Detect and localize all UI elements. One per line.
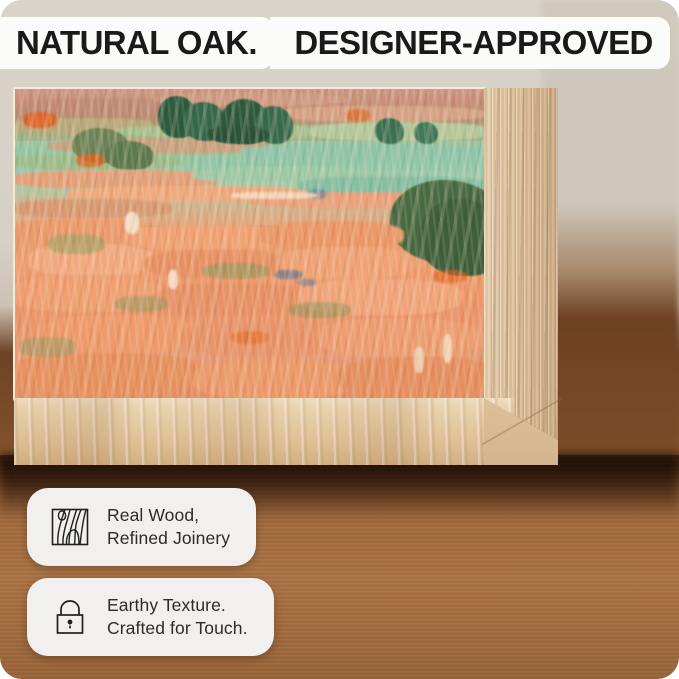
oak-grain-streaks bbox=[14, 398, 514, 465]
painting-layers bbox=[15, 89, 485, 399]
headline-badge: NATURAL OAK. DESIGNER-APPROVED bbox=[0, 14, 670, 69]
frame-bottom-rail bbox=[14, 398, 514, 465]
feature-card-text: Real Wood, Refined Joinery bbox=[107, 504, 230, 550]
lock-icon bbox=[49, 596, 91, 638]
feature-card-text: Earthy Texture. Crafted for Touch. bbox=[107, 594, 248, 640]
oak-picture-frame bbox=[14, 88, 558, 465]
oak-grain-detail bbox=[484, 88, 558, 440]
headline-line-2: DESIGNER-APPROVED bbox=[270, 17, 669, 69]
feature-card-real-wood[interactable]: Real Wood, Refined Joinery bbox=[27, 488, 256, 566]
product-marketing-image: NATURAL OAK. DESIGNER-APPROVED Real Wood… bbox=[0, 0, 679, 679]
frame-miter-joint-line bbox=[482, 396, 562, 446]
feature-card-earthy-texture[interactable]: Earthy Texture. Crafted for Touch. bbox=[27, 578, 274, 656]
wood-grain-icon bbox=[49, 506, 91, 548]
painting-impasto-texture bbox=[15, 89, 485, 399]
frame-right-rail bbox=[484, 88, 558, 440]
landscape-painting bbox=[15, 89, 485, 399]
feature-card-list: Real Wood, Refined Joinery Earthy Textur… bbox=[27, 488, 274, 668]
headline-line-1: NATURAL OAK. bbox=[0, 17, 274, 69]
